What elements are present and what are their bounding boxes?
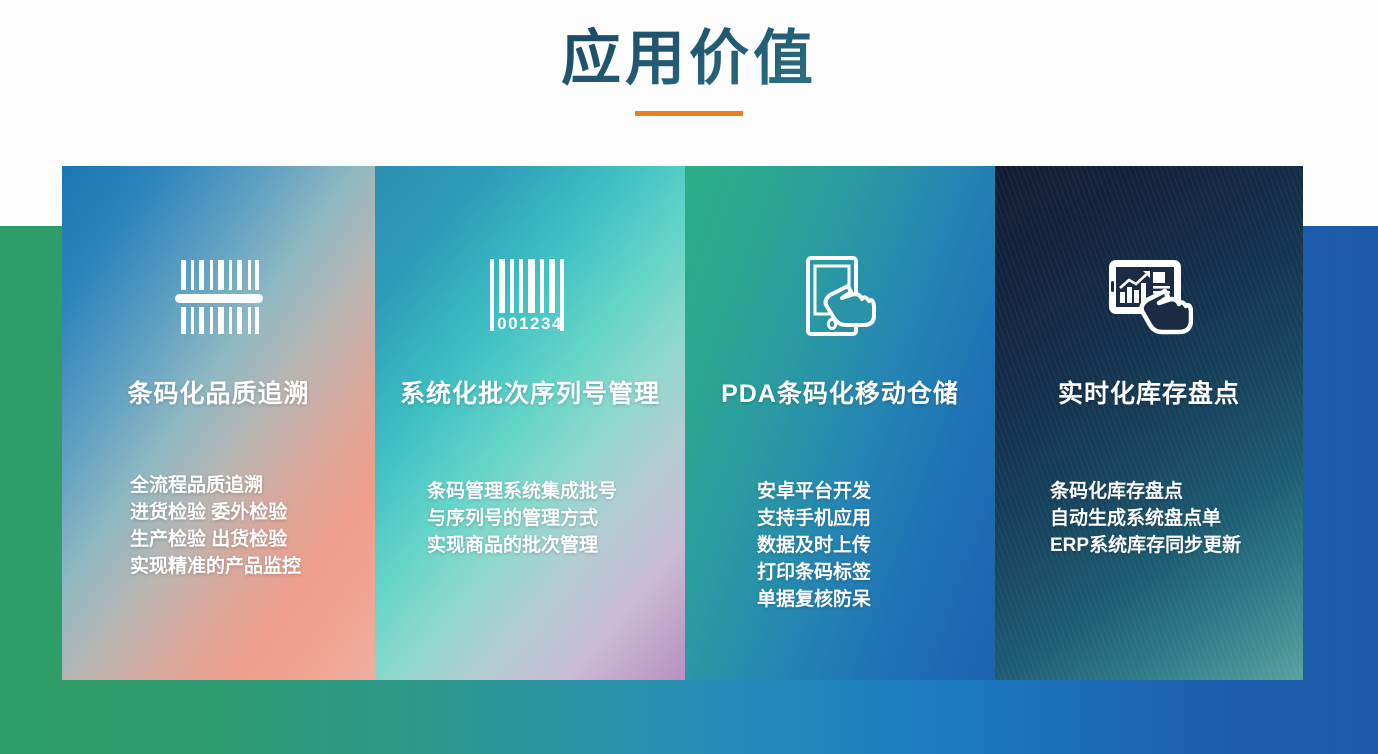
card-body-text: 条码化库存盘点 自动生成系统盘点单 ERP系统库存同步更新 [1050, 478, 1275, 559]
card-title: 实时化库存盘点 [995, 374, 1303, 410]
card-body-text: 安卓平台开发 支持手机应用 数据及时上传 打印条码标签 单据复核防呆 [757, 478, 937, 613]
card-pda-mobile-warehouse[interactable]: PDA条码化移动仓储 安卓平台开发 支持手机应用 数据及时上传 打印条码标签 单… [685, 166, 995, 680]
diagonal-streak-texture [995, 166, 1303, 680]
page-title: 应用价值 [0, 18, 1378, 100]
page-root: 应用价值 [0, 0, 1378, 754]
card-body-text: 条码管理系统集成批号 与序列号的管理方式 实现商品的批次管理 [427, 478, 657, 559]
card-title: 系统化批次序列号管理 [375, 374, 685, 410]
card-barcode-quality-trace[interactable]: 条码化品质追溯 全流程品质追溯 进货检验 委外检验 生产检验 出货检验 实现精准… [62, 166, 375, 680]
header: 应用价值 [0, 0, 1378, 166]
title-underline-rule [635, 111, 743, 116]
barcode-number-text: 001234 [497, 314, 563, 333]
card-realtime-inventory-count[interactable]: 实时化库存盘点 条码化库存盘点 自动生成系统盘点单 ERP系统库存同步更新 [995, 166, 1303, 680]
tablet-touch-icon [685, 252, 995, 342]
card-body-text: 全流程品质追溯 进货检验 委外检验 生产检验 出货检验 实现精准的产品监控 [130, 472, 320, 580]
card-batch-serial-management[interactable]: 001234 系统化批次序列号管理 条码管理系统集成批号 与序列号的管理方式 实… [375, 166, 685, 680]
card-title: 条码化品质追溯 [62, 374, 375, 410]
tablet-chart-touch-icon [995, 252, 1303, 342]
barcode-number-icon: 001234 [375, 252, 685, 342]
barcode-scanner-icon [62, 252, 375, 342]
value-cards-row: 条码化品质追溯 全流程品质追溯 进货检验 委外检验 生产检验 出货检验 实现精准… [62, 166, 1303, 680]
card-title: PDA条码化移动仓储 [685, 374, 995, 410]
